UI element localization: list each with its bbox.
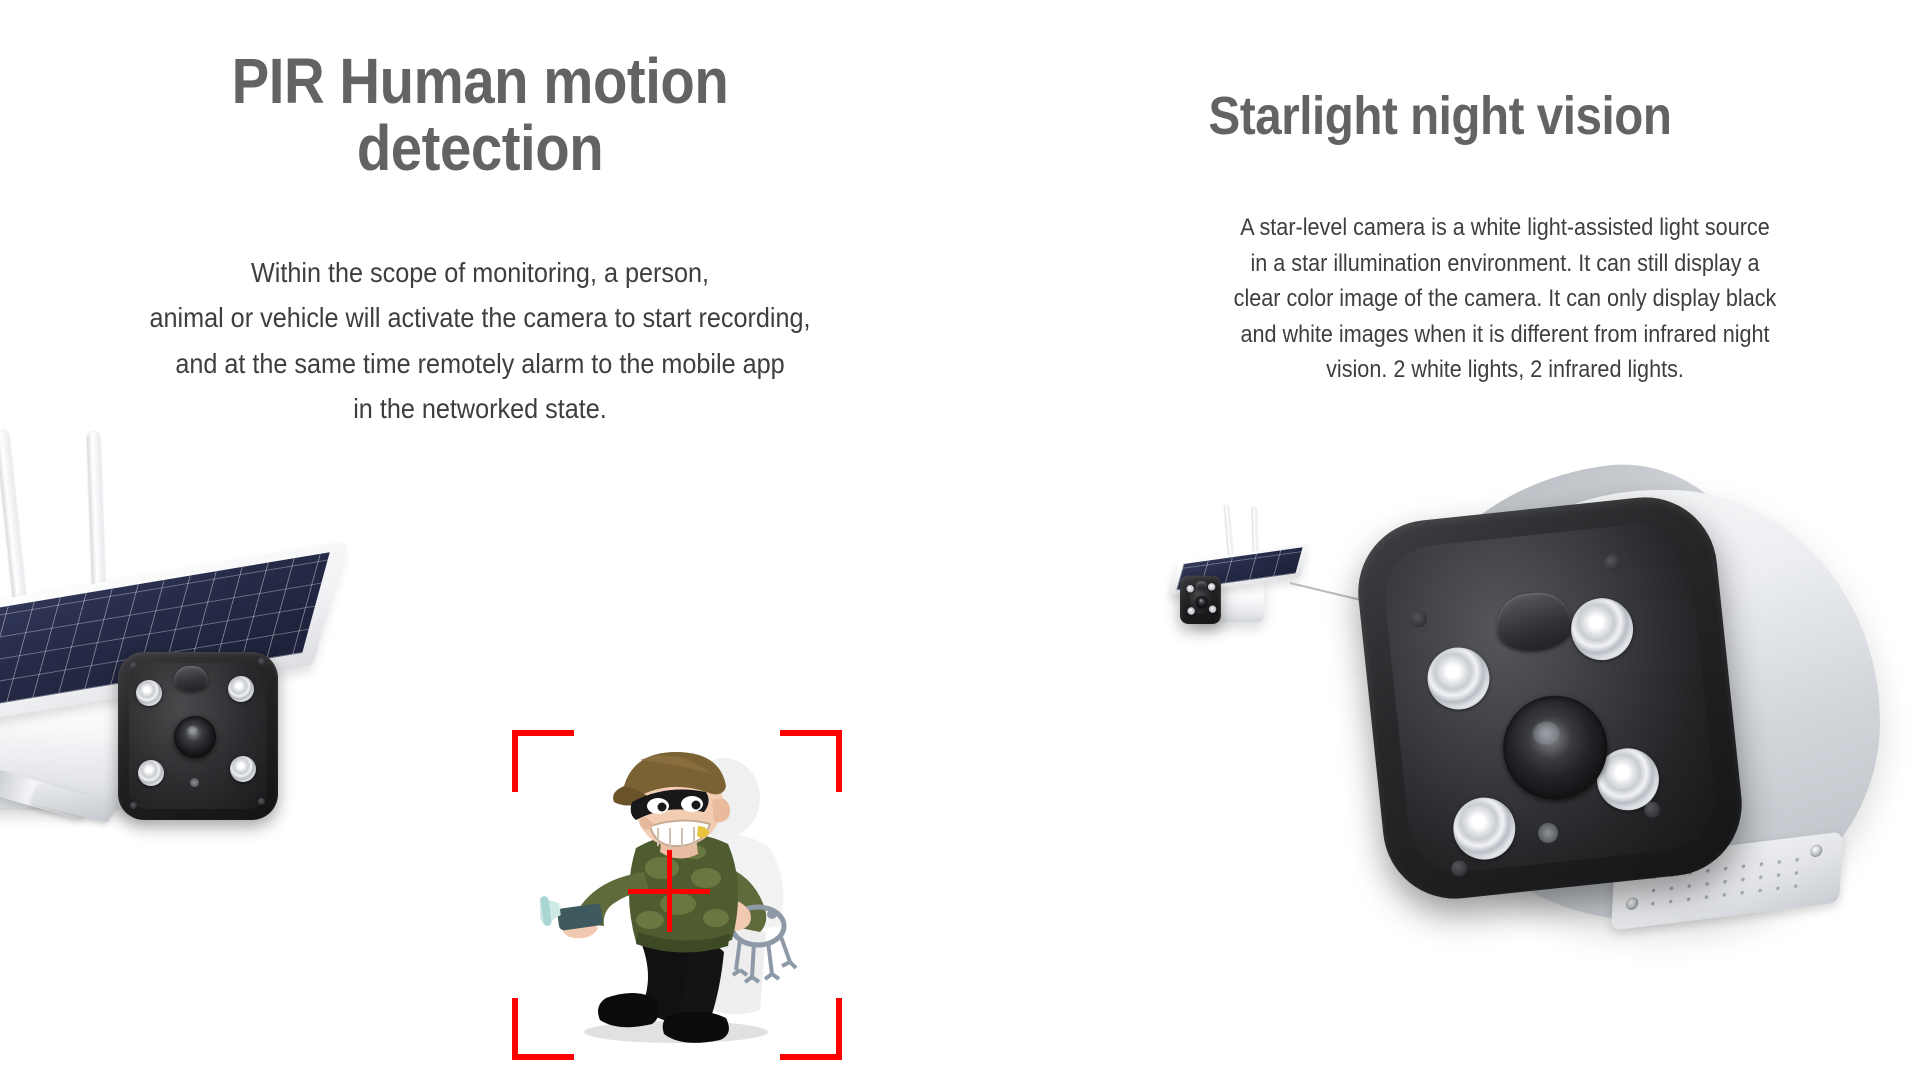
left-feature-body: Within the scope of monitoring, a person… <box>57 250 903 431</box>
led-icon <box>1568 595 1636 663</box>
right-feature-body: A star-level camera is a white light-ass… <box>1177 210 1834 388</box>
camera-lens-icon <box>174 716 216 758</box>
led-icon <box>1424 644 1492 712</box>
screw-icon <box>1451 860 1469 878</box>
left-feature-title-line-1: PIR Human motion <box>232 45 729 117</box>
screw-icon <box>258 658 265 665</box>
camera-lens-icon <box>1498 691 1612 805</box>
pir-sensor-icon <box>174 666 208 692</box>
right-body-line-4: and white images when it is different fr… <box>1177 317 1834 353</box>
led-icon <box>228 676 254 702</box>
faceplate-inner <box>1380 519 1721 877</box>
screw-icon <box>130 662 137 669</box>
screw-icon <box>1410 610 1428 628</box>
magnified-faceplate <box>1351 490 1749 906</box>
camera-lens-icon <box>1196 596 1208 608</box>
pir-motion-detection-section: PIR Human motion detection Within the sc… <box>0 0 960 1080</box>
screw-icon <box>130 802 137 809</box>
left-body-line-4: in the networked state. <box>57 386 903 431</box>
crosshair-icon <box>628 850 710 932</box>
light-sensor-icon <box>190 778 199 787</box>
light-sensor-icon <box>1537 822 1559 844</box>
pir-sensor-icon <box>1196 581 1207 589</box>
led-icon <box>138 760 164 786</box>
led-icon <box>230 756 256 782</box>
left-body-line-2: animal or vehicle will activate the came… <box>57 295 903 340</box>
screw-icon <box>1810 844 1823 858</box>
pir-sensor-icon <box>1493 589 1575 655</box>
screw-icon <box>258 798 265 805</box>
night-vision-magnified-camera <box>1390 490 1910 1000</box>
left-body-line-3: and at the same time remotely alarm to t… <box>57 341 903 386</box>
left-feature-title-line-2: detection <box>357 112 603 184</box>
led-icon <box>1208 583 1215 590</box>
left-feature-title: PIR Human motion detection <box>128 48 832 182</box>
led-icon <box>1187 585 1194 592</box>
detection-frame <box>512 730 842 1060</box>
right-feature-title: Starlight night vision <box>1088 88 1792 145</box>
led-icon <box>1187 607 1194 614</box>
left-body-line-1: Within the scope of monitoring, a person… <box>57 250 903 295</box>
screw-icon <box>1626 897 1639 911</box>
right-body-line-3: clear color image of the camera. It can … <box>1177 281 1834 317</box>
screw-icon <box>1643 801 1661 819</box>
right-body-line-5: vision. 2 white lights, 2 infrared light… <box>1177 352 1834 388</box>
led-icon <box>1450 795 1518 863</box>
right-body-line-2: in a star illumination environment. It c… <box>1177 246 1834 282</box>
night-vision-small-camera <box>1180 505 1347 645</box>
solar-camera-image <box>0 430 460 890</box>
right-body-line-1: A star-level camera is a white light-ass… <box>1177 210 1834 246</box>
screw-icon <box>1603 554 1621 572</box>
led-icon <box>1209 605 1216 612</box>
led-icon <box>136 680 162 706</box>
